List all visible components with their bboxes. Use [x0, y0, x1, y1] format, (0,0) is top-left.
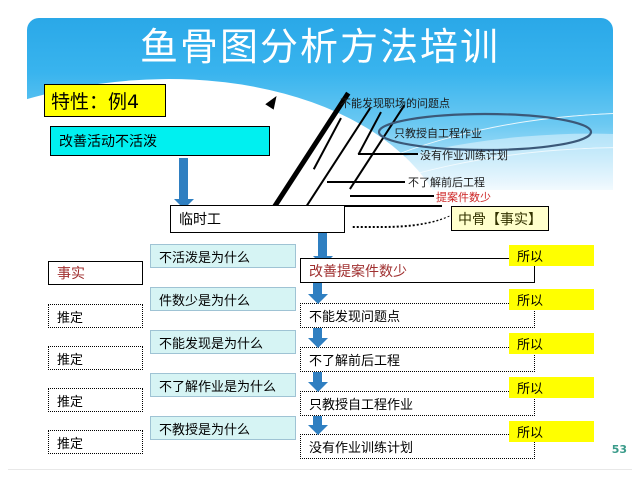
- answer-cell-3: 只教授自工程作业: [300, 391, 535, 416]
- connector-label-1: 所以: [509, 289, 594, 310]
- page-number: 53: [612, 443, 627, 456]
- fishbone-subbone-2: [358, 153, 418, 155]
- connector-label-3: 所以: [509, 377, 594, 398]
- connector-label-2: 所以: [509, 333, 594, 354]
- left-column-cell-2: 推定: [48, 346, 143, 370]
- answer-cell-1: 不能发现问题点: [300, 303, 535, 328]
- answer-arrow-4: [313, 416, 322, 426]
- question-cell-3: 不了解作业是为什么: [150, 373, 296, 397]
- cause-label-1: 不能发现职场的问题点: [340, 95, 450, 111]
- question-cell-1: 件数少是为什么: [150, 287, 296, 311]
- answer-cell-2: 不了解前后工程: [300, 347, 535, 372]
- connector-label-4: 所以: [509, 421, 594, 442]
- answer-arrow-2: [313, 328, 322, 339]
- cause-label-3: 没有作业训练计划: [420, 147, 508, 163]
- callout-note-box: 中骨【事实】: [451, 206, 549, 231]
- question-cell-2: 不能发现是为什么: [150, 330, 296, 354]
- left-column-cell-0: 事实: [48, 261, 143, 285]
- highlighted-cause-label: 提案件数少: [436, 189, 491, 205]
- left-column-cell-1: 推定: [48, 304, 143, 328]
- question-cell-4: 不教授是为什么: [150, 416, 296, 440]
- backbone-to-answer-arrow: [318, 233, 327, 257]
- backbone-box: 临时工: [170, 205, 345, 233]
- cause-label-2: 只教授自工程作业: [394, 125, 482, 141]
- effect-box: 改善活动不活泼: [50, 126, 270, 156]
- bottom-divider: [8, 469, 632, 470]
- question-cell-0: 不活泼是为什么: [150, 244, 296, 268]
- answer-cell-4: 没有作业训练计划: [300, 434, 535, 459]
- effect-to-backbone-arrow: [179, 158, 188, 200]
- characteristic-label-box: 特性：例4: [44, 84, 166, 117]
- answer-arrow-1: [313, 283, 322, 295]
- slide-canvas: 鱼骨图分析方法培训 特性：例4 改善活动不活泼 不能发现职场的问题点 只教授自工…: [0, 0, 640, 480]
- answer-cell-0: 改善提案件数少: [300, 258, 535, 283]
- connector-label-0: 所以: [509, 245, 594, 266]
- left-column-cell-3: 推定: [48, 388, 143, 412]
- answer-arrow-3: [313, 372, 322, 383]
- page-title: 鱼骨图分析方法培训: [0, 28, 640, 66]
- left-column-cell-4: 推定: [48, 430, 143, 454]
- fishbone-subbone-1: [327, 181, 405, 183]
- cause-label-4: 不了解前后工程: [408, 174, 485, 190]
